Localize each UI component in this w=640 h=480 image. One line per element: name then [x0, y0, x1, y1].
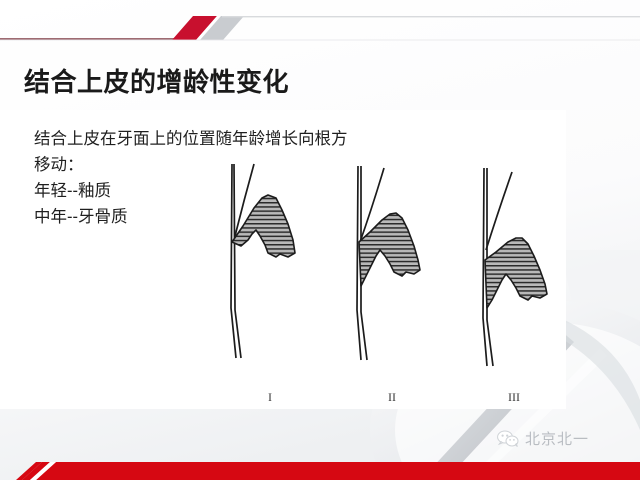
diagram-label-3: III [454, 390, 574, 405]
diagram-label-2: II [332, 390, 452, 405]
diagram-label-1: I [210, 390, 330, 405]
body-line-1: 结合上皮在牙面上的位置随年龄增长向根方 [34, 126, 348, 152]
wechat-icon [497, 430, 519, 448]
page-title: 结合上皮的增龄性变化 [24, 62, 289, 99]
content-panel: 结合上皮在牙面上的位置随年龄增长向根方 移动： 年轻--釉质 中年--牙骨质 [0, 110, 566, 409]
slide-root: 结合上皮的增龄性变化 结合上皮在牙面上的位置随年龄增长向根方 移动： 年轻--釉… [0, 0, 640, 480]
watermark-text: 北京北一 [525, 428, 589, 449]
diagram-stage-1: I [210, 160, 330, 409]
diagram-group: I II [210, 160, 566, 409]
diagram-stage-1-figure [210, 160, 330, 390]
top-decoration-band [0, 0, 640, 56]
diagram-stage-3: III [454, 160, 574, 409]
watermark: 北京北一 [497, 428, 589, 449]
diagram-stage-2: II [332, 160, 452, 409]
diagram-stage-3-figure [454, 160, 574, 390]
diagram-stage-2-figure [332, 160, 452, 390]
bottom-accent-bar [0, 455, 640, 480]
